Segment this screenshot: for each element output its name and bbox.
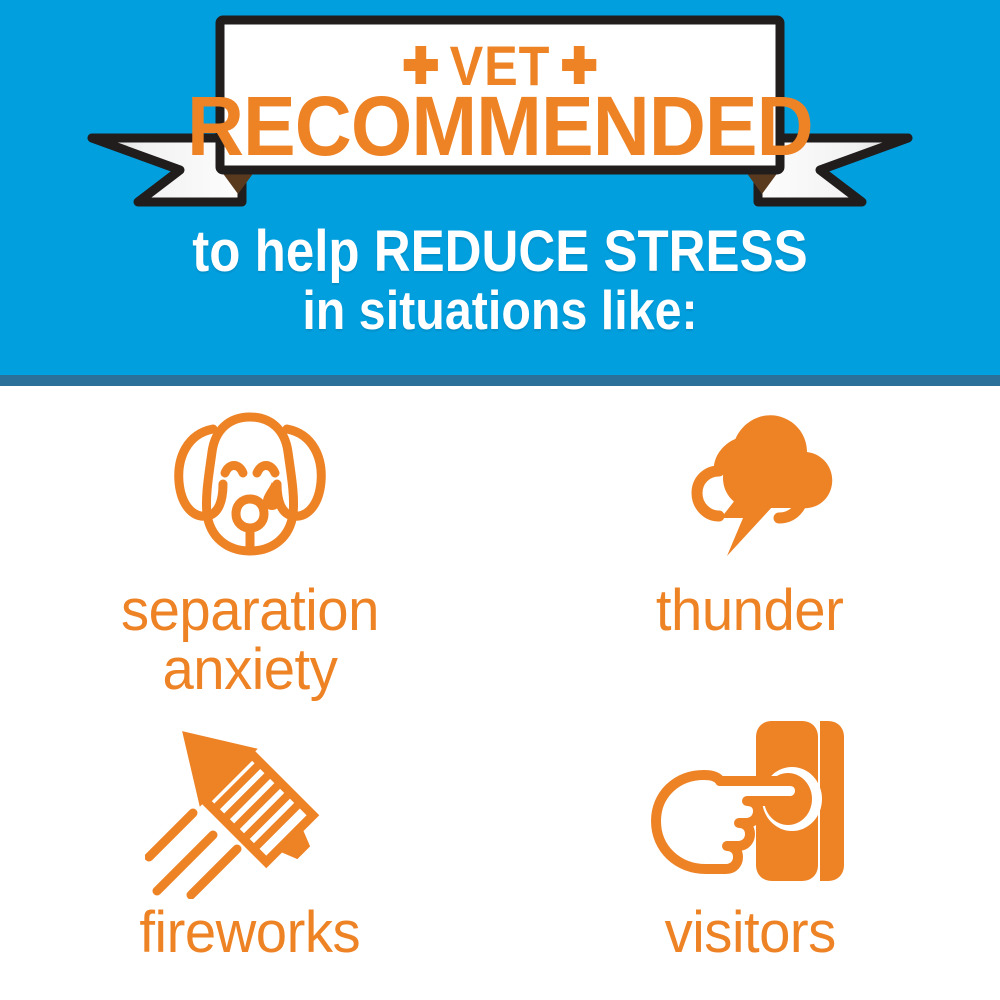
hero-divider-rule bbox=[0, 375, 1000, 386]
situation-label-line-1: thunder bbox=[656, 581, 843, 640]
situation-item-thunder: thunder bbox=[500, 392, 1000, 699]
situation-label: thunder bbox=[656, 581, 843, 640]
situation-label-line-2: anxiety bbox=[121, 640, 379, 699]
ribbon-shape bbox=[70, 12, 930, 208]
situation-label-line-1: visitors bbox=[664, 903, 835, 962]
subtitle-line-2: in situations like: bbox=[60, 282, 940, 339]
ribbon-plaque bbox=[220, 20, 780, 170]
situation-item-fireworks: fireworks bbox=[0, 699, 500, 1000]
rocket-tail bbox=[278, 827, 316, 865]
situations-grid: separation anxiety thunder bbox=[0, 392, 1000, 1000]
ribbon-banner: VET RECOMMENDED bbox=[70, 12, 930, 208]
situation-label: fireworks bbox=[140, 903, 361, 962]
situation-label: separation anxiety bbox=[121, 581, 379, 699]
situation-item-separation-anxiety: separation anxiety bbox=[0, 392, 500, 699]
situation-item-visitors: visitors bbox=[500, 699, 1000, 1000]
rocket-nose-cone bbox=[153, 702, 258, 807]
subtitle-line-1: to help REDUCE STRESS bbox=[60, 222, 940, 282]
doorbell-hand-icon bbox=[642, 703, 858, 899]
situation-label-line-1: separation bbox=[121, 581, 379, 640]
hero-subtitle: to help REDUCE STRESS in situations like… bbox=[0, 222, 1000, 340]
sad-dog-face-icon bbox=[157, 400, 343, 565]
situation-label-line-1: fireworks bbox=[140, 903, 361, 962]
thunder-cloud-icon bbox=[657, 400, 843, 565]
situation-label: visitors bbox=[664, 903, 835, 962]
poster: VET RECOMMENDED to help REDUCE STRESS in… bbox=[0, 0, 1000, 1000]
firework-rocket-icon bbox=[145, 699, 355, 899]
